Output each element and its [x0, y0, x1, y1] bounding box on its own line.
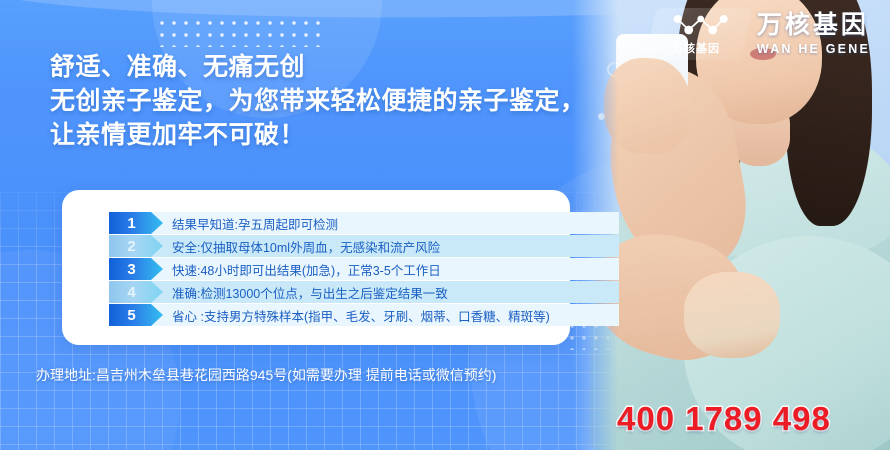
badge-arrow-shape [109, 304, 163, 326]
feature-text: 准确:检测13000个位点，与出生之后鉴定结果一致 [172, 283, 448, 302]
photo-hand-lower [684, 272, 780, 358]
headline-line-3: 让亲情更加牢不可破！ [50, 118, 586, 152]
phone-number: 400 1789 498 [617, 400, 831, 438]
feature-number: 2 [127, 239, 135, 254]
feature-text: 安全:仅抽取母体10ml外周血，无感染和流产风险 [172, 237, 440, 256]
feature-number: 1 [127, 216, 135, 231]
feature-text: 快速:48小时即可出结果(加急)，正常3-5个工作日 [172, 260, 441, 279]
list-item: 3 快速:48小时即可出结果(加急)，正常3-5个工作日 [109, 258, 570, 280]
logo-wordmark: 万核基因 WAN HE GENE [757, 13, 870, 56]
photo-hand-upper [604, 58, 690, 154]
dot-grid-top-decoration [156, 17, 328, 47]
headline: 舒适、准确、无痛无创 无创亲子鉴定，为您带来轻松便捷的亲子鉴定， 让亲情更加牢不… [50, 50, 586, 152]
list-item: 2 安全:仅抽取母体10ml外周血，无感染和流产风险 [109, 235, 570, 257]
feature-text: 结果早知道:孕五周起即可检测 [172, 214, 338, 233]
badge-arrow-shape [109, 212, 163, 234]
badge-arrow-shape [109, 258, 163, 280]
logo-name-cn: 万核基因 [757, 13, 869, 38]
feature-number: 3 [127, 262, 135, 277]
feature-number-badge: 5 [109, 304, 163, 326]
badge-arrow-shape [109, 235, 163, 257]
list-item: 5 省心 :支持男方特殊样本(指甲、毛发、牙刷、烟蒂、口香糖、精斑等) [109, 304, 570, 326]
feature-number: 5 [127, 308, 135, 323]
features-card: 1 结果早知道:孕五周起即可检测 2 安全:仅抽取母体10ml外周血，无感染和流… [62, 190, 570, 345]
feature-number-badge: 2 [109, 235, 163, 257]
pregnant-woman-photo [572, 0, 890, 450]
molecule-network-icon [671, 13, 731, 39]
logo-badge-text: 万核基因 [672, 40, 720, 56]
feature-number-badge: 1 [109, 212, 163, 234]
badge-arrow-shape [109, 281, 163, 303]
logo-badge: 万核基因 [645, 8, 752, 60]
features-list: 1 结果早知道:孕五周起即可检测 2 安全:仅抽取母体10ml外周血，无感染和流… [109, 212, 570, 327]
address-text: 办理地址:昌吉州木垒县巷花园西路945号(如需要办理 提前电话或微信预约) [36, 365, 496, 385]
feature-number-badge: 4 [109, 281, 163, 303]
list-item: 1 结果早知道:孕五周起即可检测 [109, 212, 570, 234]
list-item: 4 准确:检测13000个位点，与出生之后鉴定结果一致 [109, 281, 570, 303]
logo-name-en: WAN HE GENE [757, 43, 870, 56]
brand-logo: 万核基因 万核基因 WAN HE GENE [651, 8, 870, 60]
headline-line-1: 舒适、准确、无痛无创 [50, 50, 586, 84]
headline-line-2: 无创亲子鉴定，为您带来轻松便捷的亲子鉴定， [50, 84, 586, 118]
advertisement-banner: 万核基因 万核基因 WAN HE GENE 舒适、准确、无痛无创 无创亲子鉴定，… [0, 0, 890, 450]
feature-number: 4 [127, 285, 135, 300]
feature-number-badge: 3 [109, 258, 163, 280]
feature-text: 省心 :支持男方特殊样本(指甲、毛发、牙刷、烟蒂、口香糖、精斑等) [172, 306, 550, 325]
